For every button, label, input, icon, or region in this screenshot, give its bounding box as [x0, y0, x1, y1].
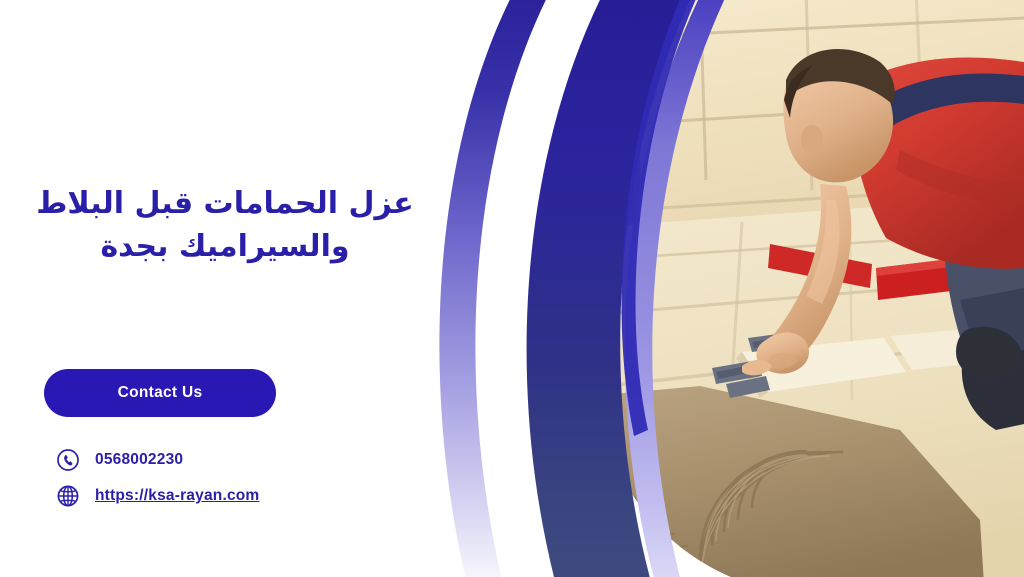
contact-us-button[interactable]: Contact Us	[44, 369, 276, 417]
content-panel: عزل الحمامات قبل البلاط والسيراميك بجدة …	[0, 0, 470, 577]
page-title: عزل الحمامات قبل البلاط والسيراميك بجدة	[20, 183, 430, 268]
website-url[interactable]: https://ksa-rayan.com	[95, 487, 259, 505]
promo-banner: عزل الحمامات قبل البلاط والسيراميك بجدة …	[0, 0, 1024, 577]
contact-us-label: Contact Us	[118, 384, 203, 402]
phone-row[interactable]: 0568002230	[56, 443, 259, 477]
contact-details: 0568002230 https://ksa-rayan.com	[56, 443, 259, 515]
globe-icon	[56, 484, 80, 508]
website-row[interactable]: https://ksa-rayan.com	[56, 479, 259, 513]
phone-number: 0568002230	[95, 451, 183, 469]
phone-circle-icon	[56, 448, 80, 472]
